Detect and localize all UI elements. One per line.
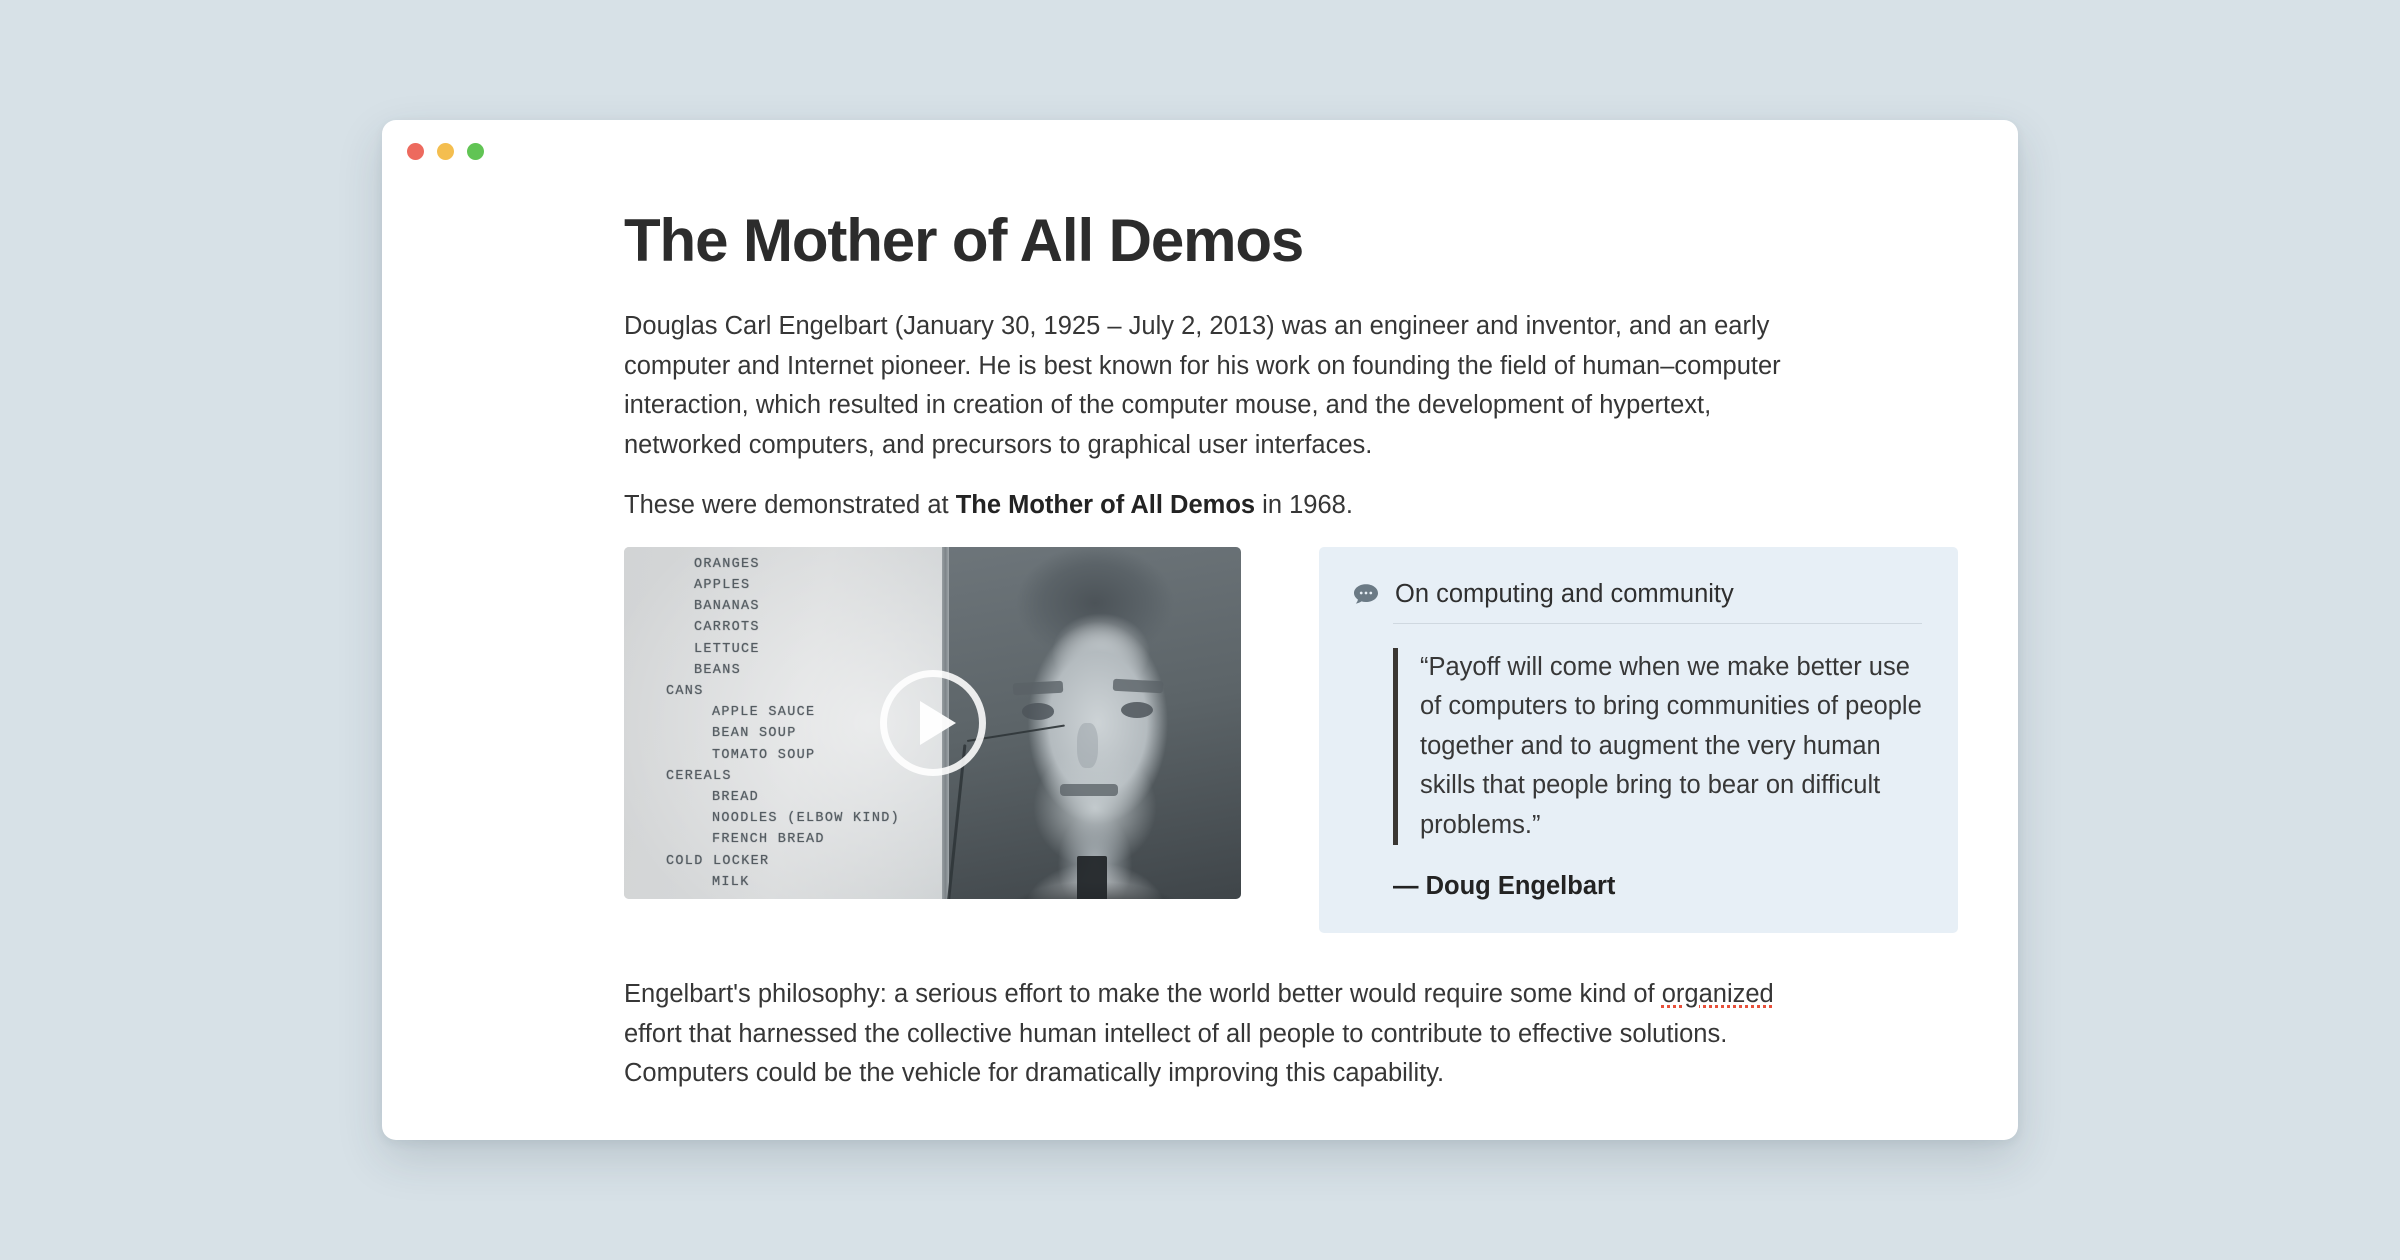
closing-before: Engelbart's philosophy: a serious effort… (624, 980, 1662, 1008)
play-icon (920, 701, 956, 745)
demo-line-emphasis: The Mother of All Demos (956, 491, 1255, 519)
eyebrow-left-shape (1013, 681, 1063, 696)
quote-card-header: On computing and community (1353, 577, 1922, 611)
page-title: The Mother of All Demos (624, 207, 1958, 274)
mouth-shape (1060, 784, 1118, 795)
quote-text: “Payoff will come when we make better us… (1420, 648, 1922, 846)
grocery-list-item: APPLES (624, 575, 942, 596)
grocery-list-item: CEREALS (624, 766, 942, 787)
eye-left-shape (1022, 703, 1054, 719)
quote-topic-label: On computing and community (1395, 577, 1734, 611)
screen: The Mother of All Demos Douglas Carl Eng… (0, 0, 2400, 1260)
nose-shape (1077, 723, 1097, 769)
zoom-button[interactable] (467, 143, 484, 160)
app-window: The Mother of All Demos Douglas Carl Eng… (382, 120, 2018, 1140)
grocery-list-item: FRENCH BREAD (624, 829, 942, 850)
grocery-list-item: ORANGES (624, 554, 942, 575)
misspelled-word[interactable]: organized (1662, 980, 1774, 1008)
demo-line: These were demonstrated at The Mother of… (624, 486, 1744, 526)
close-button[interactable] (407, 143, 424, 160)
video-thumbnail[interactable]: ORANGESAPPLESBANANASCARROTSLETTUCEBEANSC… (624, 547, 1241, 899)
engelbart-portrait (949, 547, 1241, 899)
media-quote-row: ORANGESAPPLESBANANASCARROTSLETTUCEBEANSC… (624, 547, 1958, 934)
play-button[interactable] (880, 670, 986, 776)
eye-right-shape (1121, 702, 1153, 718)
minimize-button[interactable] (437, 143, 454, 160)
grocery-list-item: LETTUCE (624, 639, 942, 660)
grocery-list-item: CARROTS (624, 617, 942, 638)
window-titlebar (382, 120, 2018, 182)
closing-paragraph: Engelbart's philosophy: a serious effort… (624, 975, 1794, 1094)
blockquote: “Payoff will come when we make better us… (1393, 648, 1922, 846)
grocery-list-item: BANANAS (624, 596, 942, 617)
quote-card: On computing and community “Payoff will … (1319, 547, 1958, 934)
closing-after: effort that harnessed the collective hum… (624, 1020, 1727, 1088)
grocery-list-item: BREAD (624, 787, 942, 808)
grocery-list-item: MILK (624, 872, 942, 893)
demo-line-after: in 1968. (1255, 491, 1353, 519)
grocery-list-item: BEANS (624, 660, 942, 681)
grocery-list-item: COLD LOCKER (624, 851, 942, 872)
speech-bubble-icon (1353, 583, 1379, 605)
quote-card-divider (1393, 623, 1922, 624)
quote-attribution: — Doug Engelbart (1393, 869, 1922, 903)
document-content: The Mother of All Demos Douglas Carl Eng… (382, 182, 2018, 1094)
grocery-list-item: NOODLES (ELBOW KIND) (624, 808, 942, 829)
eyebrow-right-shape (1112, 679, 1162, 694)
necktie-shape (1077, 856, 1106, 898)
demo-line-before: These were demonstrated at (624, 491, 956, 519)
intro-paragraph: Douglas Carl Engelbart (January 30, 1925… (624, 307, 1794, 465)
